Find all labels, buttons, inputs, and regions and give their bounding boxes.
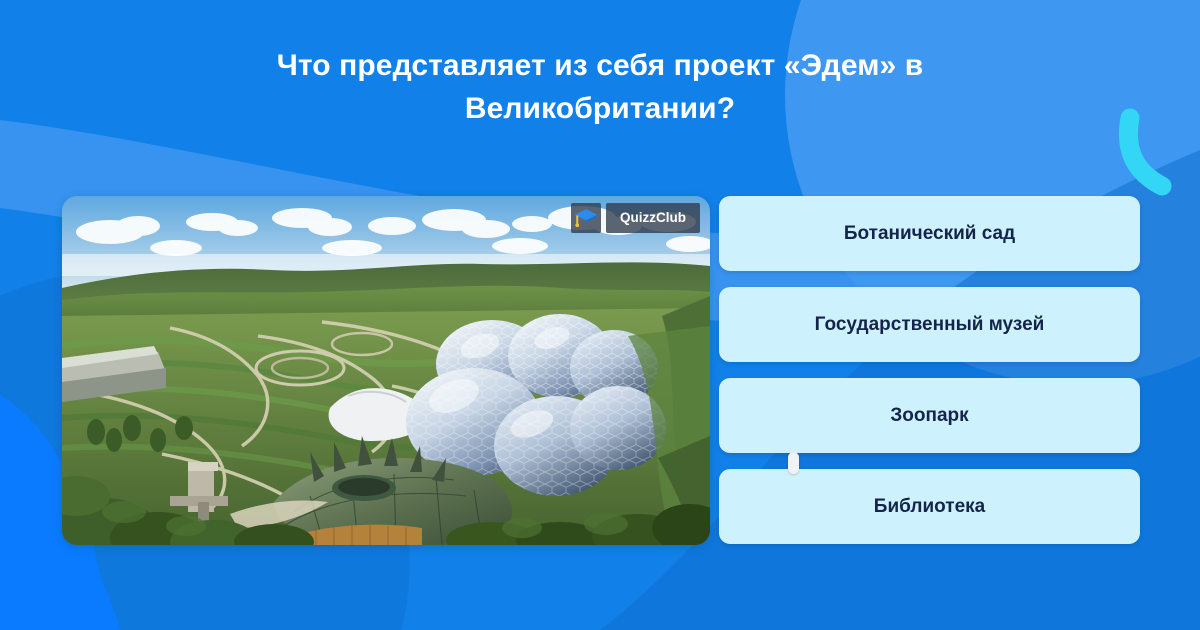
answer-option-4[interactable]: Библиотека [719,469,1140,544]
eden-project-photo [62,196,710,545]
watermark: QuizzClub [571,203,700,233]
graduation-cap-icon [571,196,601,393]
brand-name: QuizzClub [606,203,700,233]
answer-option-1-label: Ботанический сад [828,222,1031,246]
brand-logo-badge [571,203,601,233]
cyan-swoosh-icon [1128,118,1162,186]
scroll-marker [788,452,799,474]
page-title: Что представляет из себя проект «Эдем» в… [180,44,1020,130]
answer-option-1[interactable]: Ботанический сад [719,196,1140,271]
answer-option-3[interactable]: Зоопарк [719,378,1140,453]
answer-option-3-label: Зоопарк [874,404,984,428]
answer-options-list: Ботанический сад Государственный музей З… [719,196,1140,544]
quiz-card: Что представляет из себя проект «Эдем» в… [0,0,1200,630]
answer-option-4-label: Библиотека [858,495,1001,519]
answer-option-2[interactable]: Государственный музей [719,287,1140,362]
answer-option-2-label: Государственный музей [799,313,1061,337]
question-image: QuizzClub [62,196,710,545]
